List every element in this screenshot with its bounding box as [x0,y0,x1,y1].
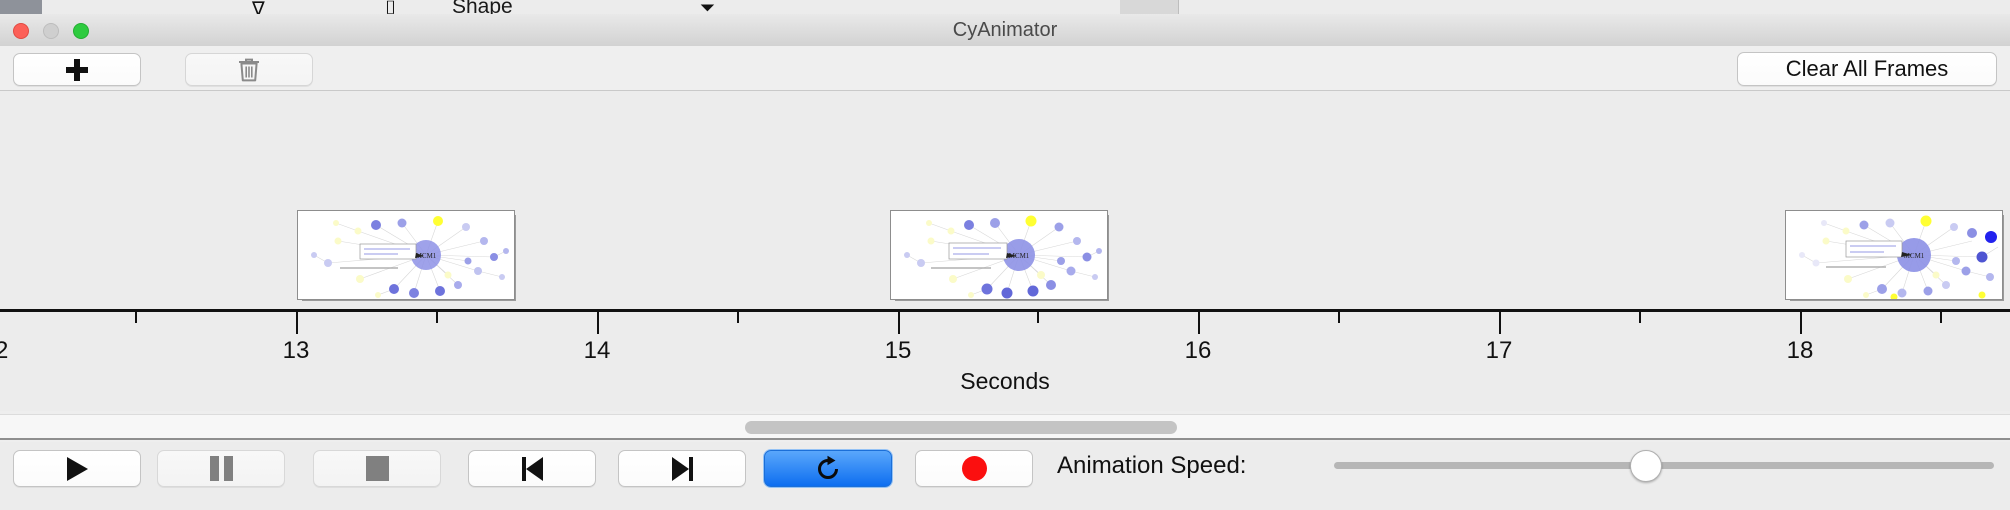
network-graph-thumbnail: MCM1 [1786,211,2002,299]
clear-all-frames-button[interactable]: Clear All Frames [1737,52,1997,86]
frame-thumbnail: MCM1 [1785,210,2003,300]
background-window-label: Shape [452,0,513,14]
axis-major-tick [597,312,599,334]
bg-segment [513,0,692,14]
slider-track[interactable] [1334,462,1994,469]
axis-minor-tick [1639,312,1641,323]
frame-thumbnail: MCM1 [297,210,515,300]
axis-major-tick [1198,312,1200,334]
axis-tick-label: 12 [0,337,8,365]
title-bar: CyAnimator [0,14,2010,47]
timeline-frame[interactable]: MCM1 [297,210,515,300]
axis-minor-tick [1940,312,1942,323]
axis-major-tick [296,312,298,334]
bg-segment [42,0,238,14]
plus-icon [66,59,88,81]
window-title: CyAnimator [0,14,2010,46]
loop-icon [814,455,842,483]
axis-title: Seconds [0,368,2010,395]
timeline-frame[interactable]: MCM1 [890,210,1108,300]
play-button[interactable] [13,450,141,487]
bg-segment [691,0,952,14]
bg-segment [1251,0,2010,14]
axis-major-tick [1499,312,1501,334]
bg-glyph-icon: ⏷ [700,0,715,14]
pause-icon [210,456,233,481]
stop-icon [366,456,389,481]
scrollbar-thumb[interactable] [745,421,1177,434]
bg-segment [1120,0,1179,14]
bg-segment [0,0,43,14]
axis-tick-label: 14 [584,337,611,365]
bg-glyph-icon: ∇ [252,0,265,14]
skip-backward-icon [522,457,543,481]
toolbar: Clear All Frames [0,46,2010,91]
axis-tick-label: 16 [1185,337,1212,365]
network-graph-thumbnail: MCM1 [891,211,1107,299]
loop-button[interactable] [764,450,892,487]
axis-minor-tick [737,312,739,323]
axis-minor-tick [135,312,137,323]
cyanimator-window: ∇ ⌷ ⏷ Shape CyAnimator Clear All Frames [0,0,2010,510]
axis-minor-tick [1338,312,1340,323]
axis-tick-label: 18 [1787,337,1814,365]
skip-forward-button[interactable] [618,450,746,487]
record-icon [962,456,987,481]
axis-tick-label: 15 [885,337,912,365]
frames-area[interactable]: MCM1 [0,91,2010,310]
bg-glyph-icon: ⌷ [385,0,396,14]
record-button[interactable] [915,450,1033,487]
playback-controls: Animation Speed: [0,442,2010,510]
axis-minor-tick [436,312,438,323]
timeline-panel[interactable]: MCM1 [0,91,2010,411]
bg-segment [951,0,1252,14]
stop-button[interactable] [313,450,441,487]
axis-minor-tick [1037,312,1039,323]
slider-thumb[interactable] [1630,450,1662,482]
animation-speed-label: Animation Speed: [1057,452,1246,480]
skip-backward-button[interactable] [468,450,596,487]
svg-text:MCM1: MCM1 [1904,252,1925,260]
axis-major-tick [1800,312,1802,334]
timeline-frame[interactable]: MCM1 [1785,210,2003,300]
trash-icon [237,57,261,83]
pause-button[interactable] [157,450,285,487]
add-frame-button[interactable] [13,53,141,86]
skip-forward-icon [672,457,693,481]
network-graph-thumbnail: MCM1 [298,211,514,299]
axis-tick-label: 13 [283,337,310,365]
axis-tick-label: 17 [1486,337,1513,365]
frame-thumbnail: MCM1 [890,210,1108,300]
background-window-strip: ∇ ⌷ ⏷ Shape [0,0,2010,14]
delete-frame-button[interactable] [185,53,313,86]
play-icon [67,457,88,481]
timeline-scrollbar[interactable] [0,414,2010,440]
axis-major-tick [898,312,900,334]
timeline-axis-shadow [0,310,2010,312]
